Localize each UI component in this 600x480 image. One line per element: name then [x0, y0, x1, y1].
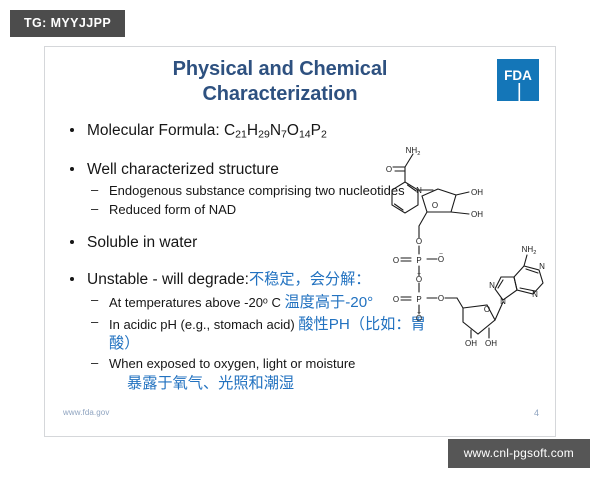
- svg-text:O: O: [393, 295, 399, 304]
- svg-text:N: N: [489, 281, 495, 290]
- dash-bullet-icon: –: [91, 314, 98, 331]
- svg-text:O: O: [484, 305, 490, 314]
- svg-text:O: O: [438, 294, 444, 303]
- formula-c-count: 21: [235, 129, 247, 141]
- svg-text:NH2: NH2: [406, 146, 421, 157]
- svg-text:O: O: [432, 201, 438, 210]
- dash-bullet-icon: –: [91, 201, 98, 218]
- sub-bullet-reduced-nad-label: Reduced form of NAD: [109, 202, 236, 217]
- sub-bullet-endogenous-label: Endogenous substance comprising two nucl…: [109, 183, 405, 198]
- svg-text:N: N: [416, 186, 422, 195]
- formula-o-count: 14: [299, 129, 311, 141]
- sub-bullet-acidic-ph-label: In acidic pH (e.g., stomach acid): [109, 317, 295, 332]
- svg-text:O: O: [393, 256, 399, 265]
- sub-bullet-temperature-unit: C: [268, 295, 281, 310]
- formula-p-count: 2: [321, 129, 327, 141]
- bullet-unstable-label: Unstable - will degrade:: [87, 271, 249, 288]
- svg-text:OH: OH: [485, 339, 497, 348]
- sub-bullet-oxygen: – When exposed to oxygen, light or moist…: [61, 356, 441, 394]
- sub-bullet-oxygen-label-cn: 暴露于氧气、光照和潮湿: [109, 375, 441, 393]
- dash-bullet-icon: –: [91, 292, 98, 309]
- bullet-dot-icon: [70, 128, 74, 132]
- svg-text:N: N: [539, 262, 545, 271]
- formula-p: P: [311, 122, 321, 139]
- bullet-soluble-label: Soluble in water: [87, 234, 197, 251]
- svg-text:P: P: [416, 295, 421, 304]
- svg-text:OH: OH: [465, 339, 477, 348]
- molecular-formula-label: Molecular Formula:: [87, 122, 224, 139]
- formula-c: C: [224, 122, 235, 139]
- page-title-line-1: Physical and Chemical: [173, 58, 388, 80]
- page-number: 4: [534, 408, 539, 418]
- formula-h-count: 29: [258, 129, 270, 141]
- svg-text:NH2: NH2: [522, 245, 537, 256]
- dash-bullet-icon: –: [91, 182, 98, 199]
- bullet-molecular-formula: Molecular Formula: C21H29N7O14P2: [61, 121, 441, 142]
- tg-overlay-label: TG: MYYJJPP: [24, 16, 111, 30]
- sub-bullet-temperature-label-cn: 温度高于-20°: [284, 294, 373, 311]
- formula-n: N: [270, 122, 281, 139]
- svg-text:OH: OH: [471, 210, 483, 219]
- fda-logo-icon: FDA: [497, 59, 539, 101]
- formula-h: H: [247, 122, 258, 139]
- page-title: Physical and Chemical Characterization: [85, 57, 475, 107]
- bullet-dot-icon: [70, 277, 74, 281]
- slide-footer: www.fda.gov 4: [45, 408, 555, 428]
- site-watermark-label: www.cnl-pgsoft.com: [464, 446, 574, 460]
- bullet-well-characterized-label: Well characterized structure: [87, 161, 279, 178]
- nadh-structure-diagram: NH2 O N O OH OH O P O O O P O O O O OH O…: [383, 142, 551, 357]
- bullet-dot-icon: [70, 240, 74, 244]
- sub-bullet-temperature-label: At temperatures above -20: [109, 295, 263, 310]
- presentation-slide: Physical and Chemical Characterization F…: [44, 46, 556, 437]
- svg-text:O: O: [416, 237, 422, 246]
- svg-text:FDA: FDA: [504, 68, 532, 83]
- svg-text:OH: OH: [471, 188, 483, 197]
- svg-text:P: P: [416, 256, 421, 265]
- svg-text:N: N: [500, 297, 506, 306]
- bullet-unstable-label-cn: 不稳定，会分解：: [249, 271, 371, 288]
- sub-bullet-oxygen-label: When exposed to oxygen, light or moistur…: [109, 356, 355, 371]
- bullet-dot-icon: [70, 167, 74, 171]
- footer-url[interactable]: www.fda.gov: [63, 408, 109, 417]
- dash-bullet-icon: –: [91, 355, 98, 372]
- tg-overlay-badge: TG: MYYJJPP: [10, 10, 125, 37]
- svg-text:N: N: [532, 290, 538, 299]
- formula-o: O: [287, 122, 299, 139]
- site-watermark: www.cnl-pgsoft.com: [448, 439, 590, 468]
- svg-text:O: O: [386, 165, 392, 174]
- page-title-line-2: Characterization: [202, 83, 357, 105]
